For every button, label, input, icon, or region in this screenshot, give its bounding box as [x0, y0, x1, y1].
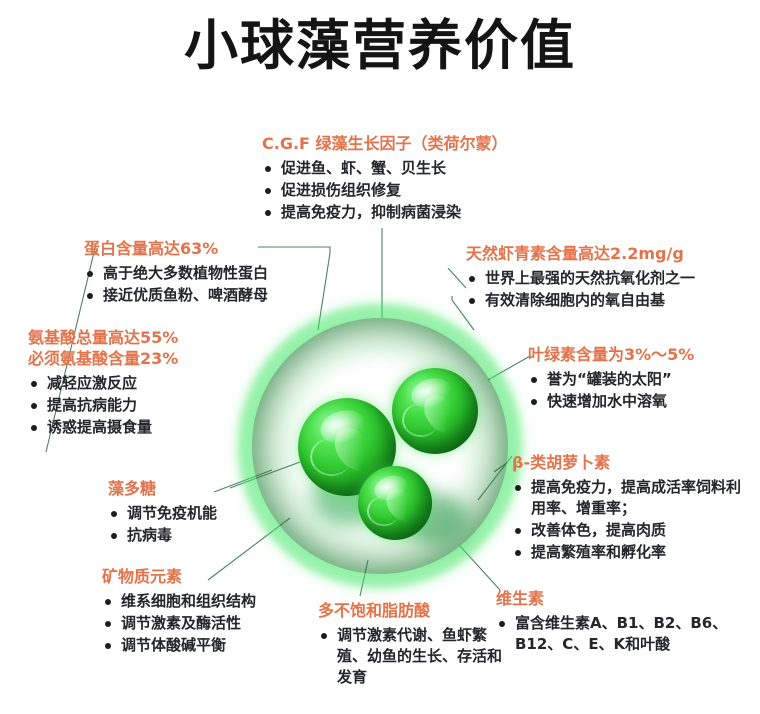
list-item: 调节激素及酶活性: [102, 613, 256, 634]
list-item: 誉为“罐装的太阳”: [528, 369, 694, 390]
list-item: 世界上最强的天然抗氧化剂之一: [466, 268, 695, 289]
list-item: 提高免疫力，提高成活率饲料利用率、增重率；: [512, 477, 752, 519]
section-items: 富含维生素A、B1、B2、B6、B12、C、E、K和叶酸: [496, 613, 746, 655]
section-heading: 叶绿素含量为3%～5%: [528, 344, 694, 365]
section-heading: C.G.F 绿藻生长因子（类荷尔蒙）: [262, 133, 508, 154]
list-item: 减轻应激反应: [28, 373, 178, 394]
list-item: 促进鱼、虾、蟹、贝生长: [262, 158, 508, 179]
algae-sphere: [298, 398, 396, 496]
list-item: 提高免疫力，抑制病菌浸染: [262, 202, 508, 223]
section-heading: 维生素: [496, 588, 746, 609]
sphere-highlight: [316, 405, 369, 449]
cell-texture-blob: [402, 378, 462, 428]
section-polysaccharide: 藻多糖 调节免疫机能 抗病毒: [108, 478, 217, 547]
section-items: 调节免疫机能 抗病毒: [108, 503, 217, 546]
algae-sphere: [392, 368, 478, 454]
list-item: 诱惑提高摄食量: [28, 417, 178, 438]
list-item: 快速增加水中溶氧: [528, 391, 694, 412]
sphere-band: [382, 484, 419, 525]
section-amino-acid: 氨基酸总量高达55% 必须氨基酸含量23% 减轻应激反应 提高抗病能力 诱惑提高…: [28, 327, 178, 439]
section-heading: 矿物质元素: [102, 566, 256, 587]
list-item: 高于绝大多数植物性蛋白: [84, 263, 268, 284]
cell-texture-blob: [312, 468, 382, 526]
wire-astaxanthin-2: [448, 268, 466, 288]
section-heading: 蛋白含量高达63%: [84, 238, 268, 259]
section-heading: 藻多糖: [108, 478, 217, 499]
sphere-arc: [364, 494, 401, 529]
section-heading: 多不饱和脂肪酸: [318, 600, 508, 621]
cell-body: [252, 318, 508, 574]
section-items: 减轻应激反应 提高抗病能力 诱惑提高摄食量: [28, 373, 178, 438]
section-items: 促进鱼、虾、蟹、贝生长 促进损伤组织修复 提高免疫力，抑制病菌浸染: [262, 158, 508, 223]
section-items: 世界上最强的天然抗氧化剂之一 有效清除细胞内的氧自由基: [466, 268, 695, 311]
list-item: 促进损伤组织修复: [262, 180, 508, 201]
section-items: 维系细胞和组织结构 调节激素及酶活性 调节体酸碱平衡: [102, 591, 256, 656]
section-items: 高于绝大多数植物性蛋白 接近优质鱼粉、啤酒酵母: [84, 263, 268, 306]
sphere-band: [329, 422, 378, 477]
sphere-arc: [306, 435, 354, 480]
section-astaxanthin: 天然虾青素含量高达2.2mg/g 世界上最强的天然抗氧化剂之一 有效清除细胞内的…: [466, 243, 695, 312]
section-mineral: 矿物质元素 维系细胞和组织结构 调节激素及酶活性 调节体酸碱平衡: [102, 566, 256, 657]
list-item: 富含维生素A、B1、B2、B6、B12、C、E、K和叶酸: [496, 613, 746, 655]
list-item: 调节免疫机能: [108, 503, 217, 524]
cell-texture-blob: [402, 493, 468, 545]
list-item: 提高抗病能力: [28, 395, 178, 416]
section-heading: 天然虾青素含量高达2.2mg/g: [466, 243, 695, 264]
algae-sphere: [358, 466, 432, 540]
section-items: 誉为“罐装的太阳” 快速增加水中溶氧: [528, 369, 694, 412]
list-item: 改善体色，提高肉质: [512, 520, 752, 541]
section-heading-line1: 氨基酸总量高达55%: [28, 327, 178, 348]
sphere-band: [419, 389, 462, 437]
section-vitamin: 维生素 富含维生素A、B1、B2、B6、B12、C、E、K和叶酸: [496, 588, 746, 656]
section-cgf: C.G.F 绿藻生长因子（类荷尔蒙） 促进鱼、虾、蟹、贝生长 促进损伤组织修复 …: [262, 133, 508, 224]
list-item: 抗病毒: [108, 525, 217, 546]
list-item: 有效清除细胞内的氧自由基: [466, 290, 695, 311]
sphere-highlight: [371, 471, 411, 504]
sphere-highlight: [408, 374, 454, 412]
section-protein: 蛋白含量高达63% 高于绝大多数植物性蛋白 接近优质鱼粉、啤酒酵母: [84, 238, 268, 307]
section-heading: β-类胡萝卜素: [512, 452, 752, 473]
section-items: 提高免疫力，提高成活率饲料利用率、增重率； 改善体色，提高肉质 提高繁殖率和孵化…: [512, 477, 752, 563]
section-heading-line2: 必须氨基酸含量23%: [28, 348, 178, 369]
section-fatty-acid: 多不饱和脂肪酸 调节激素代谢、鱼虾繁殖、幼鱼的生长、存活和发育: [318, 600, 508, 689]
section-items: 调节激素代谢、鱼虾繁殖、幼鱼的生长、存活和发育: [318, 625, 508, 688]
list-item: 提高繁殖率和孵化率: [512, 542, 752, 563]
list-item: 维系细胞和组织结构: [102, 591, 256, 612]
section-chlorophyll: 叶绿素含量为3%～5% 誉为“罐装的太阳” 快速增加水中溶氧: [528, 344, 694, 413]
list-item: 调节激素代谢、鱼虾繁殖、幼鱼的生长、存活和发育: [318, 625, 508, 688]
list-item: 接近优质鱼粉、啤酒酵母: [84, 285, 268, 306]
section-beta-carotene: β-类胡萝卜素 提高免疫力，提高成活率饲料利用率、增重率； 改善体色，提高肉质 …: [512, 452, 752, 564]
chlorella-cell: [238, 304, 522, 588]
list-item: 调节体酸碱平衡: [102, 635, 256, 656]
page-title: 小球藻营养价值: [0, 16, 760, 76]
infographic-canvas: 小球藻营养价值: [0, 0, 760, 714]
sphere-arc: [399, 401, 441, 441]
